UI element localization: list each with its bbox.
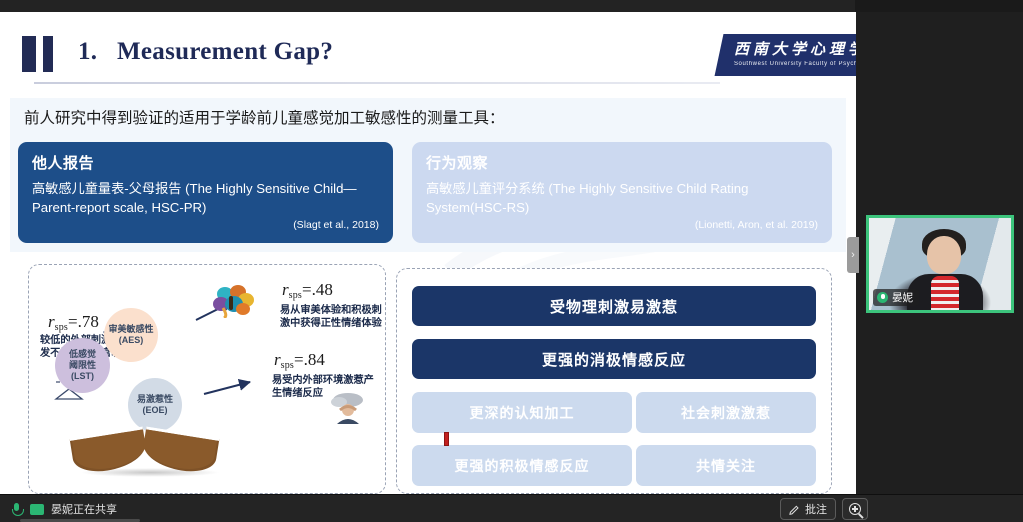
screen-share-icon[interactable]	[30, 504, 44, 515]
trait-box-4[interactable]: 社会刺激激惹	[636, 392, 816, 433]
collapse-video-rail-handle[interactable]: ›	[847, 237, 859, 273]
circle-lst-label: 低感觉阈限性	[69, 349, 96, 371]
annotation-text-cursor	[444, 432, 449, 446]
circle-lst: 低感觉阈限性 (LST)	[55, 338, 110, 393]
participant-face	[927, 236, 961, 274]
circle-eoe-label: 易激惹性	[137, 394, 173, 405]
sharing-status-label: 晏妮正在共享	[51, 501, 117, 517]
circle-aes-label: 审美敏感性	[108, 324, 153, 335]
sharing-status: 晏妮正在共享	[10, 495, 117, 522]
pencil-icon	[789, 504, 800, 515]
participant-scarf	[931, 276, 959, 313]
participant-name-badge: 晏妮	[873, 289, 919, 306]
participant-name-label: 晏妮	[892, 290, 913, 305]
circle-lst-abbr: (LST)	[71, 371, 94, 382]
trait-box-2[interactable]: 更强的消极情感反应	[412, 339, 816, 379]
shared-screen-slide[interactable]: 1. Measurement Gap? 西南大学心理学部 Southwest U…	[0, 12, 856, 494]
share-toolbar: 批注	[780, 498, 868, 520]
circle-eoe: 易激惹性 (EOE)	[128, 378, 182, 432]
trait-box-6[interactable]: 共情关注	[636, 445, 816, 486]
annotate-label: 批注	[805, 501, 827, 517]
circle-eoe-abbr: (EOE)	[142, 405, 167, 416]
aesthetic-art-icon	[212, 284, 254, 318]
circle-aes: 审美敏感性 (AES)	[104, 308, 158, 362]
microphone-icon	[877, 292, 888, 303]
zoom-in-icon	[849, 503, 861, 515]
zoom-meeting-window: 1. Measurement Gap? 西南大学心理学部 Southwest U…	[0, 0, 1023, 522]
emotional-distress-icon	[330, 392, 366, 424]
trait-box-1[interactable]: 受物理刺激易激惹	[412, 286, 816, 326]
participant-video-tile[interactable]: 晏妮	[866, 215, 1014, 313]
meeting-bottom-bar: 晏妮正在共享 批注	[0, 494, 1023, 522]
circle-aes-abbr: (AES)	[119, 335, 144, 346]
annotate-button[interactable]: 批注	[780, 498, 836, 520]
zoom-in-button[interactable]	[842, 498, 868, 520]
trait-box-5[interactable]: 更强的积极情感反应	[412, 445, 632, 486]
trait-box-3[interactable]: 更深的认知加工	[412, 392, 632, 433]
microphone-icon[interactable]	[10, 503, 23, 516]
